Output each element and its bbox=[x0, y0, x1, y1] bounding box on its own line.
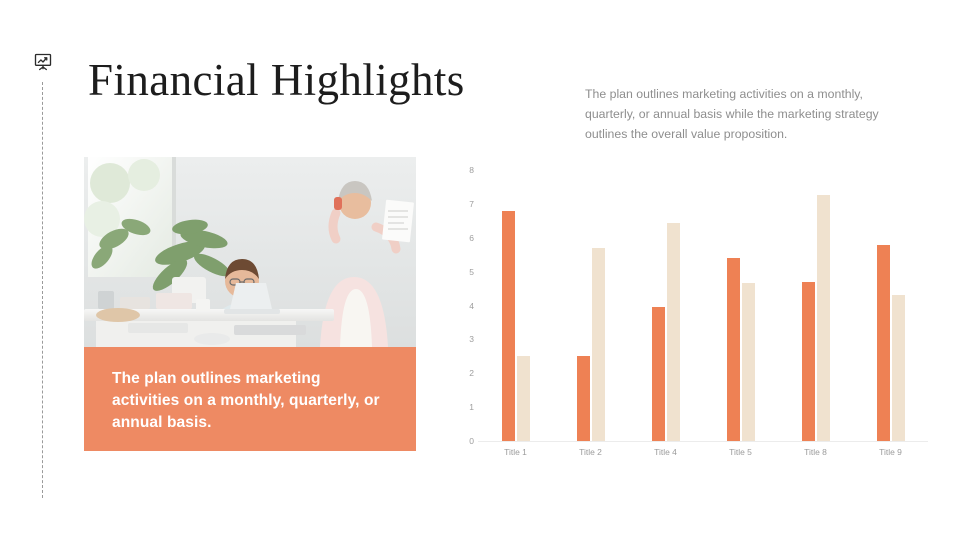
bar-1[interactable] bbox=[577, 356, 590, 441]
bar-1[interactable] bbox=[727, 258, 740, 441]
bar-2[interactable] bbox=[592, 248, 605, 441]
presentation-chart-icon bbox=[33, 52, 53, 72]
bar-group bbox=[628, 170, 703, 441]
chart-plot-area bbox=[478, 170, 928, 441]
bar-1[interactable] bbox=[877, 245, 890, 441]
bar-group bbox=[778, 170, 853, 441]
x-tick-label: Title 1 bbox=[478, 446, 553, 458]
office-photo bbox=[84, 157, 416, 347]
bar-2[interactable] bbox=[517, 356, 530, 441]
y-tick-label: 8 bbox=[450, 165, 474, 175]
x-tick-label: Title 8 bbox=[778, 446, 853, 458]
y-tick-label: 2 bbox=[450, 368, 474, 378]
bar-2[interactable] bbox=[892, 295, 905, 441]
x-tick-label: Title 2 bbox=[553, 446, 628, 458]
y-axis: 876543210 bbox=[450, 170, 474, 441]
bar-group bbox=[703, 170, 778, 441]
bar-1[interactable] bbox=[652, 307, 665, 441]
bar-group bbox=[553, 170, 628, 441]
bar-group bbox=[478, 170, 553, 441]
bar-2[interactable] bbox=[667, 223, 680, 441]
bar-1[interactable] bbox=[502, 211, 515, 441]
y-tick-label: 4 bbox=[450, 301, 474, 311]
bar-groups bbox=[478, 170, 928, 441]
y-tick-label: 5 bbox=[450, 267, 474, 277]
bar-chart: 876543210 Title 1Title 2Title 4Title 5Ti… bbox=[450, 160, 928, 460]
page-title: Financial Highlights bbox=[88, 53, 465, 107]
bar-2[interactable] bbox=[742, 283, 755, 441]
x-tick-label: Title 5 bbox=[703, 446, 778, 458]
y-tick-label: 0 bbox=[450, 436, 474, 446]
y-tick-label: 3 bbox=[450, 334, 474, 344]
y-tick-label: 7 bbox=[450, 199, 474, 209]
rail-dashed-line bbox=[42, 82, 43, 498]
x-axis-baseline bbox=[478, 441, 928, 442]
bar-group bbox=[853, 170, 928, 441]
x-tick-label: Title 9 bbox=[853, 446, 928, 458]
y-tick-label: 1 bbox=[450, 402, 474, 412]
description-text: The plan outlines marketing activities o… bbox=[585, 84, 907, 144]
slide-root: Financial Highlights bbox=[0, 0, 980, 552]
x-tick-label: Title 4 bbox=[628, 446, 703, 458]
photo-card: The plan outlines marketing activities o… bbox=[84, 157, 416, 451]
bar-2[interactable] bbox=[817, 195, 830, 441]
x-axis-labels: Title 1Title 2Title 4Title 5Title 8Title… bbox=[478, 446, 928, 458]
photo-caption: The plan outlines marketing activities o… bbox=[84, 347, 416, 451]
y-tick-label: 6 bbox=[450, 233, 474, 243]
bar-1[interactable] bbox=[802, 282, 815, 441]
